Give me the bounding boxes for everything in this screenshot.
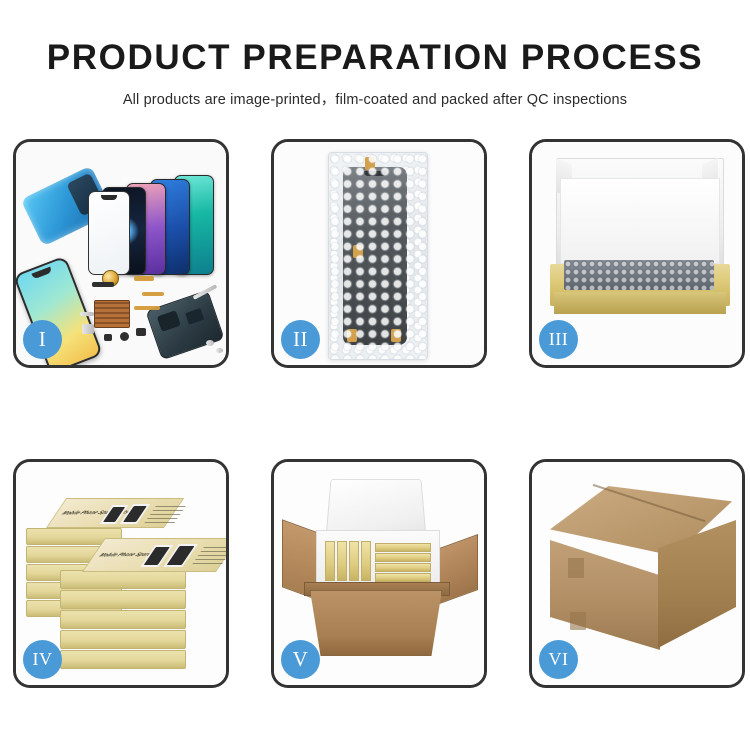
page-title: PRODUCT PREPARATION PROCESS xyxy=(0,40,750,77)
yellow-box-item xyxy=(375,553,431,562)
bubble-wrapped-contents xyxy=(564,260,714,290)
process-steps-grid: I II xyxy=(13,139,745,688)
flex-cable-icon xyxy=(134,306,160,310)
box-lid-top-back: Mobile Phone Spare Parts xyxy=(46,498,184,528)
box-spec-line xyxy=(198,555,226,556)
foam-insert-box xyxy=(316,530,440,588)
chip-part-icon xyxy=(136,328,146,336)
box-edge xyxy=(60,590,186,609)
box-tray-front-panel xyxy=(554,292,726,314)
flex-cable-icon xyxy=(142,292,164,296)
box-edge xyxy=(60,650,186,669)
yellow-box-item xyxy=(375,543,431,552)
chip-part-icon xyxy=(120,332,129,341)
box-spec-line xyxy=(192,563,223,564)
flex-cable-icon xyxy=(134,276,154,281)
step-badge-6: VI xyxy=(539,640,578,679)
box-spec-line xyxy=(155,506,186,507)
yellow-box-item xyxy=(375,563,431,572)
header: PRODUCT PREPARATION PROCESS All products… xyxy=(0,0,750,109)
box-spec-line xyxy=(200,551,226,552)
carton-tape-patch xyxy=(570,612,586,630)
step-badge-1: I xyxy=(23,320,62,359)
chip-part-icon xyxy=(92,282,114,287)
box-spec-line xyxy=(195,559,226,560)
chip-part-icon xyxy=(104,334,112,341)
box-spec-line xyxy=(150,514,181,515)
adhesive-tab-icon xyxy=(391,329,401,342)
box-inner-white-wall xyxy=(560,178,720,264)
carton-body xyxy=(310,590,442,656)
yellow-box-item xyxy=(337,541,347,581)
adhesive-tab-icon xyxy=(347,329,357,342)
yellow-box-item xyxy=(325,541,335,581)
screw-icon xyxy=(206,340,214,346)
step-badge-5: V xyxy=(281,640,320,679)
step-panel-3: III xyxy=(529,139,745,368)
box-spec-line xyxy=(152,510,183,511)
box-spec-line xyxy=(144,522,175,523)
box-edge xyxy=(60,610,186,629)
step-badge-2: II xyxy=(281,320,320,359)
phone-fan-group xyxy=(88,150,226,275)
screw-icon xyxy=(216,348,223,353)
metal-bracket-icon xyxy=(82,324,94,334)
box-edge xyxy=(60,630,186,649)
step-panel-1: I xyxy=(13,139,229,368)
step-badge-4: IV xyxy=(23,640,62,679)
adhesive-tab-icon xyxy=(365,157,375,170)
yellow-box-item xyxy=(349,541,359,581)
step-panel-6: VI xyxy=(529,459,745,688)
page-subtitle: All products are image-printed，film-coat… xyxy=(0,88,750,109)
step-badge-3: III xyxy=(539,320,578,359)
step-panel-2: II xyxy=(271,139,487,368)
product-preparation-infographic: PRODUCT PREPARATION PROCESS All products… xyxy=(0,0,750,750)
step-panel-5: V xyxy=(271,459,487,688)
bubble-wrap-bag xyxy=(328,152,428,360)
phone-back-housing-icon xyxy=(145,290,224,361)
box-spec-line xyxy=(147,518,178,519)
box-lid-top-front: Mobile Phone Spare Parts xyxy=(82,538,226,572)
box-edge xyxy=(60,570,186,589)
step-panel-4: Mobile Phone Spare Parts xyxy=(13,459,229,688)
screen-protector-glass-icon xyxy=(88,191,130,275)
carton-tape-patch xyxy=(568,558,584,578)
metal-bracket-icon xyxy=(80,312,94,316)
circuit-grid-board-icon xyxy=(94,300,130,328)
yellow-box-item xyxy=(375,573,431,582)
yellow-box-item xyxy=(361,541,371,581)
carton-front-face xyxy=(550,540,660,650)
adhesive-tab-icon xyxy=(353,245,363,258)
box-spec-line xyxy=(203,547,226,548)
